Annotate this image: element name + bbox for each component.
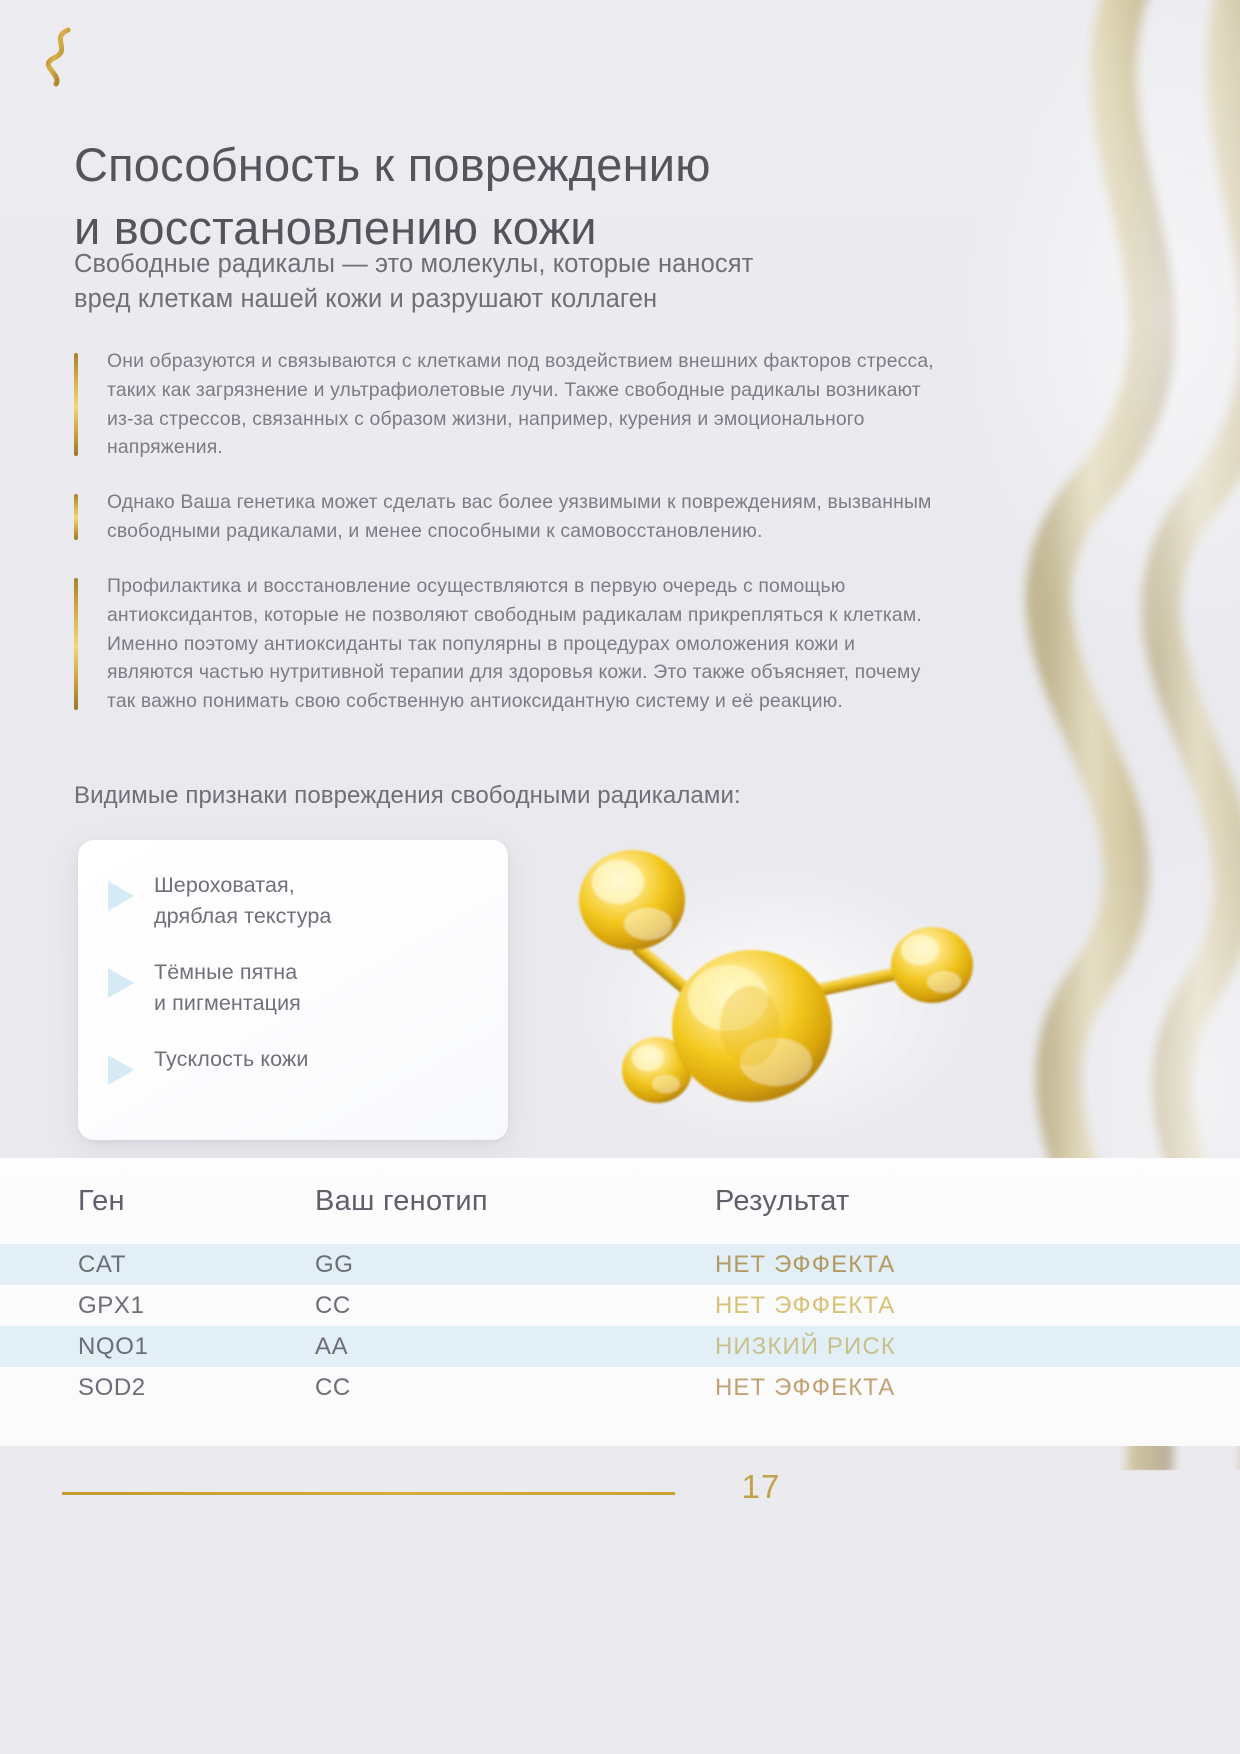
visible-signs-list: Шероховатая, дряблая текстура Тёмные пят… (108, 870, 486, 1085)
list-item: Тёмные пятна и пигментация (108, 957, 486, 1018)
cell-gene: CAT (0, 1251, 315, 1279)
footer-gold-rule (62, 1492, 675, 1495)
list-item: Шероховатая, дряблая текстура (108, 870, 486, 931)
table-row: CAT GG НЕТ ЭФФЕКТА (0, 1244, 1240, 1285)
title-line-1: Способность к повреждению (74, 138, 711, 191)
subtitle-line-1: Свободные радикалы — это молекулы, котор… (74, 250, 753, 278)
cell-genotype: CC (315, 1374, 715, 1402)
table-header-row: Ген Ваш генотип Результат (0, 1158, 1240, 1244)
table-row: NQO1 AA НИЗКИЙ РИСК (0, 1326, 1240, 1367)
page-subtitle: Свободные радикалы — это молекулы, котор… (74, 247, 954, 317)
triangle-bullet-icon (108, 968, 134, 998)
column-header-result: Результат (715, 1185, 1240, 1218)
page-number: 17 (731, 1468, 791, 1506)
visible-signs-label: Видимые признаки повреждения свободными … (74, 780, 974, 811)
sign-line-2: и пигментация (154, 988, 301, 1019)
cell-result: НЕТ ЭФФЕКТА (715, 1292, 1240, 1320)
sign-line-1: Шероховатая, (154, 873, 295, 897)
list-item: Тусклость кожи (108, 1044, 486, 1085)
paragraph-block: Однако Ваша генетика может сделать вас б… (74, 488, 944, 546)
sign-text: Тусклость кожи (154, 1044, 309, 1075)
triangle-bullet-icon (108, 881, 134, 911)
paragraph-text: Однако Ваша генетика может сделать вас б… (107, 488, 944, 546)
paragraph-block: Профилактика и восстановление осуществля… (74, 572, 944, 716)
table-row: SOD2 CC НЕТ ЭФФЕКТА (0, 1367, 1240, 1408)
paragraph-blocks: Они образуются и связываются с клетками … (74, 347, 944, 716)
cell-genotype: GG (315, 1251, 715, 1279)
sign-line-2: дряблая текстура (154, 901, 331, 932)
paragraph-text: Они образуются и связываются с клетками … (107, 347, 944, 462)
visible-signs-card: Шероховатая, дряблая текстура Тёмные пят… (78, 840, 508, 1140)
page-title: Способность к повреждению и восстановлен… (74, 134, 954, 259)
column-header-gene: Ген (0, 1185, 315, 1218)
cell-gene: GPX1 (0, 1292, 315, 1320)
sign-line-1: Тёмные пятна (154, 960, 297, 984)
cell-genotype: CC (315, 1292, 715, 1320)
paragraph-text: Профилактика и восстановление осуществля… (107, 572, 944, 716)
subtitle-line-2: вред клеткам нашей кожи и разрушают колл… (74, 282, 954, 317)
paragraph-block: Они образуются и связываются с клетками … (74, 347, 944, 462)
cell-result: НИЗКИЙ РИСК (715, 1333, 1240, 1361)
table-row: GPX1 CC НЕТ ЭФФЕКТА (0, 1285, 1240, 1326)
cell-result: НЕТ ЭФФЕКТА (715, 1374, 1240, 1402)
table-bottom-spacer (0, 1408, 1240, 1446)
gold-bar-accent (74, 494, 78, 540)
triangle-bullet-icon (108, 1055, 134, 1085)
column-header-genotype: Ваш генотип (315, 1185, 715, 1218)
cell-genotype: AA (315, 1333, 715, 1361)
cell-result: НЕТ ЭФФЕКТА (715, 1251, 1240, 1279)
cell-gene: NQO1 (0, 1333, 315, 1361)
gold-bar-accent (74, 353, 78, 456)
gold-bar-accent (74, 578, 78, 710)
report-page: Способность к повреждению и восстановлен… (0, 0, 1240, 1754)
sign-text: Шероховатая, дряблая текстура (154, 870, 331, 931)
sign-line-1: Тусклость кожи (154, 1047, 309, 1071)
sign-text: Тёмные пятна и пигментация (154, 957, 301, 1018)
results-table: Ген Ваш генотип Результат CAT GG НЕТ ЭФФ… (0, 1158, 1240, 1446)
dna-helix-icon (38, 24, 86, 88)
cell-gene: SOD2 (0, 1374, 315, 1402)
